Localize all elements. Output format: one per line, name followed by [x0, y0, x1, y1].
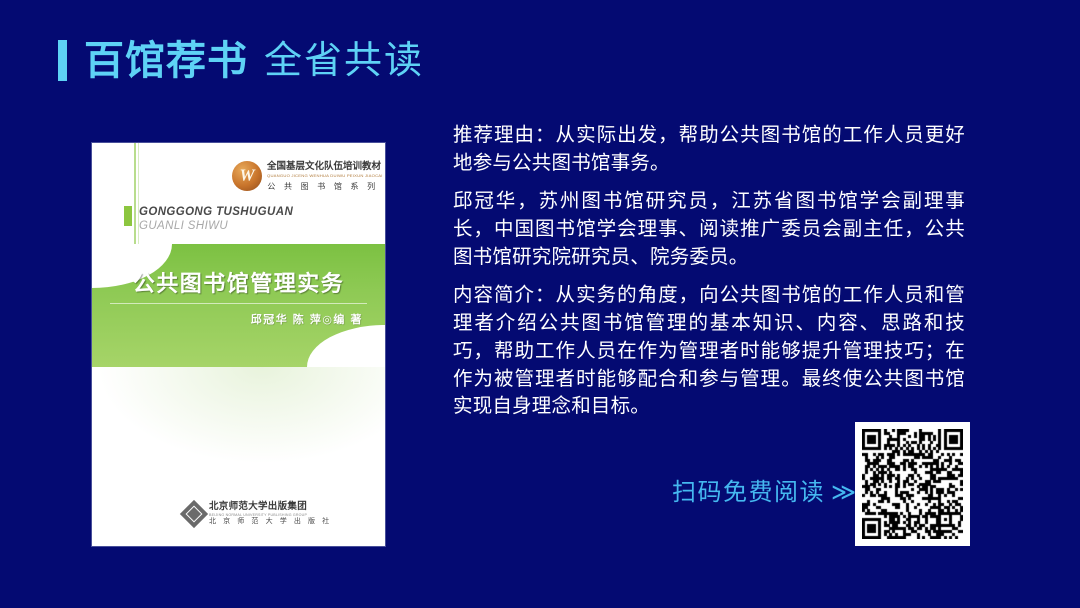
series-logo-pinyin: QUANGUO JICENG WENHUA DUIWU PEIXUN JIAOC… — [267, 173, 383, 179]
description-panel: 推荐理由：从实际出发，帮助公共图书馆的工作人员更好地参与公共图书馆事务。 邱冠华… — [453, 122, 965, 421]
description-paragraph: 推荐理由：从实际出发，帮助公共图书馆的工作人员更好地参与公共图书馆事务。 — [453, 122, 965, 177]
page-title: 百馆荐书 全省共读 — [58, 40, 424, 81]
qr-code[interactable] — [855, 422, 970, 546]
cover-pinyin-line-1: GONGGONG TUSHUGUAN — [139, 205, 293, 219]
cover-decor-line — [134, 143, 136, 255]
publisher-logo: 北京师范大学出版集团 BEIJING NORMAL UNIVERSITY PUB… — [184, 501, 332, 527]
cover-decor-tint — [92, 367, 385, 467]
chevron-right-icon: ≫ — [831, 479, 858, 506]
description-paragraph: 内容简介：从实务的角度，向公共图书馆的工作人员和管理者介绍公共图书馆管理的基本知… — [453, 282, 965, 420]
cover-authors: 邱冠华 陈 萍◎编 著 — [92, 311, 385, 327]
series-logo: 全国基层文化队伍培训教材 QUANGUO JICENG WENHUA DUIWU… — [232, 161, 377, 191]
accent-bar-icon — [58, 40, 67, 81]
scan-to-read-text: 扫码免费阅读 — [672, 479, 825, 506]
cover-pinyin-line-2: GUANLI SHIWU — [139, 219, 293, 233]
book-cover-image: 全国基层文化队伍培训教材 QUANGUO JICENG WENHUA DUIWU… — [92, 143, 385, 546]
series-logo-series: 公 共 图 书 馆 系 列 — [267, 182, 383, 192]
cover-decor-line — [138, 143, 139, 255]
scan-to-read-label: 扫码免费阅读≫ — [672, 481, 858, 505]
title-sub: 全省共读 — [264, 42, 424, 80]
publisher-mark-icon — [180, 500, 208, 528]
series-logo-mark-icon — [232, 161, 262, 191]
title-main: 百馆荐书 — [84, 41, 248, 81]
publisher-name-en: BEIJING NORMAL UNIVERSITY PUBLISHING GRO… — [209, 513, 332, 517]
publisher-name-cn2: 北 京 师 范 大 学 出 版 社 — [209, 518, 332, 527]
publisher-name-cn: 北京师范大学出版集团 — [209, 501, 332, 513]
pinyin-square-icon — [124, 206, 132, 226]
description-paragraph: 邱冠华，苏州图书馆研究员，江苏省图书馆学会副理事长，中国图书馆学会理事、阅读推广… — [453, 188, 965, 271]
series-logo-title: 全国基层文化队伍培训教材 — [267, 162, 383, 173]
cover-title: 公共图书馆管理实务 — [92, 266, 385, 298]
slide-root: 百馆荐书 全省共读 全国基层文化队伍培训教材 QUANGUO JICENG WE… — [0, 0, 1080, 608]
cover-pinyin-block: GONGGONG TUSHUGUAN GUANLI SHIWU — [124, 205, 293, 234]
cover-divider — [110, 303, 367, 304]
qr-code-canvas[interactable] — [862, 429, 963, 539]
